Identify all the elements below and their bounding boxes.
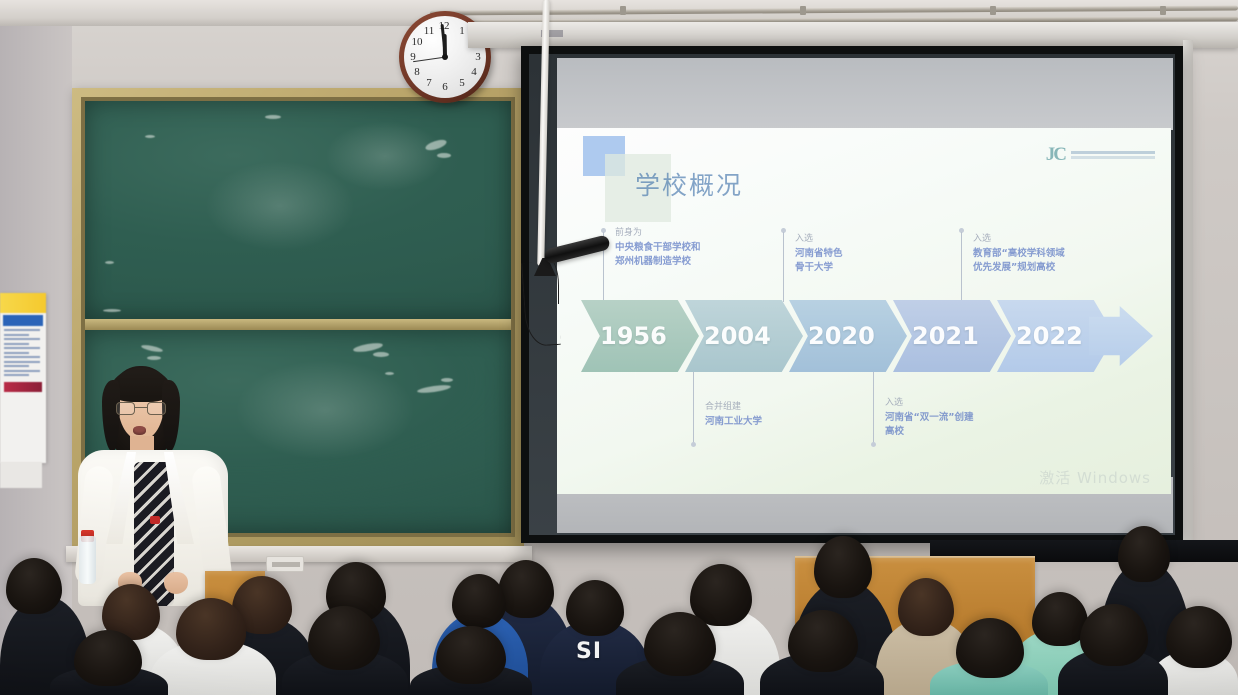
clock-numeral: 4: [468, 66, 480, 78]
lecture-hall-photo: 12 1 2 3 4 5 6 7 8 9 10 11 学校概况: [0, 0, 1238, 695]
timeline-chevron-row: 1956 2004 2020 2021 2022: [581, 300, 1147, 372]
conduit-clip: [800, 6, 806, 15]
timeline-connector-stem: [783, 232, 784, 302]
glasses-bridge: [135, 407, 147, 408]
annotation-main-line: 河南工业大学: [705, 415, 762, 430]
clock-numeral: 7: [423, 77, 435, 89]
slide-logo: JC: [1046, 144, 1155, 166]
annotation-main-line: 骨干大学: [795, 261, 843, 276]
slide-title: 学校概况: [635, 166, 743, 202]
timeline-annotation-2022: 入选 教育部“高校学科领域 优先发展”规划高校: [973, 232, 1065, 276]
poster-header-band: [0, 293, 46, 313]
timeline-year: 2020: [808, 322, 875, 350]
glasses-lens-right: [147, 402, 166, 415]
logo-wordmark-line-2: [1071, 156, 1155, 159]
annotation-small-label: 入选: [885, 396, 974, 411]
logo-wordmark: [1071, 151, 1155, 159]
poster-text-line: [4, 338, 40, 340]
clock-numeral: 1: [456, 25, 468, 37]
timeline-chevron: 2021: [893, 300, 1011, 372]
poster-text-line: [4, 356, 40, 358]
clock-numeral: 3: [472, 51, 484, 63]
poster-text-line: [4, 361, 40, 363]
poster-stamp: [4, 382, 42, 392]
timeline-connector-stem: [693, 372, 694, 444]
presenter-mouth-speaking: [133, 426, 146, 435]
fixture-slot: [272, 562, 300, 567]
annotation-small-label: 前身为: [615, 226, 701, 241]
annotation-small-label: 入选: [795, 232, 843, 247]
conduit-clip: [990, 6, 996, 15]
poster-text-line: [4, 374, 29, 376]
conduit-clip: [1160, 6, 1166, 15]
wall-poster-secondary: [0, 462, 42, 488]
annotation-small-label: 入选: [973, 232, 1065, 247]
poster-text-line: [4, 365, 29, 367]
timeline-year: 2004: [704, 322, 771, 350]
presentation-slide: 学校概况 JC 前身为 中央粮食干部学校和 郑州机器制造学校 入选 河南省特色: [557, 128, 1171, 494]
screen-right-edge: [1183, 40, 1193, 550]
poster-text-line: [4, 329, 40, 331]
annotation-main-line: 教育部“高校学科领域: [973, 247, 1065, 262]
annotation-main-line: 河南省“双一流”创建: [885, 411, 974, 426]
screen-letterbox-top: [557, 58, 1173, 130]
presenter-hand-left: [118, 572, 142, 594]
timeline-year: 2022: [1016, 322, 1083, 350]
wooden-cabinet-right: [795, 558, 1035, 695]
poster-title-bar: [3, 315, 43, 326]
presenter-badge: [150, 516, 160, 524]
water-bottle: [79, 536, 96, 584]
timeline-annotation-1956: 前身为 中央粮食干部学校和 郑州机器制造学校: [615, 226, 701, 270]
clock-center-pin: [442, 54, 448, 60]
jc-logo-mark: JC: [1046, 144, 1065, 166]
timeline-chevron: 2004: [685, 300, 803, 372]
presenter-lecturer: [78, 366, 228, 606]
clock-numeral: 11: [423, 25, 435, 37]
timeline-chevron: 1956: [581, 300, 699, 372]
presenter-glasses: [116, 402, 166, 415]
timeline-year: 2021: [912, 322, 979, 350]
windows-activation-watermark: 激活 Windows: [1039, 467, 1151, 488]
timeline-connector-stem: [873, 372, 874, 444]
wooden-cabinet-left: [205, 571, 265, 695]
poster-text-line: [4, 352, 29, 354]
annotation-main-line: 优先发展”规划高校: [973, 261, 1065, 276]
glasses-lens-left: [116, 402, 135, 415]
chalkboard-panel-top: [85, 101, 511, 319]
wall-power-socket: [278, 603, 292, 620]
wall-poster: [0, 293, 46, 463]
poster-text-line: [4, 343, 29, 345]
clock-numeral: 8: [411, 66, 423, 78]
presenter-hair-side-right: [162, 380, 180, 452]
conduit-clip: [620, 6, 626, 15]
logo-wordmark-line-1: [1071, 151, 1155, 154]
annotation-main-line: 中央粮食干部学校和: [615, 241, 701, 256]
annotation-main-line: 河南省特色: [795, 247, 843, 262]
wall-fixture-plate: [266, 556, 304, 572]
poster-text-line: [4, 370, 40, 372]
projector-screen-housing: [468, 22, 1238, 48]
clock-numeral: 5: [456, 77, 468, 89]
clock-numeral: 10: [411, 36, 423, 48]
annotation-small-label: 合并组建: [705, 400, 762, 415]
annotation-main-line: 高校: [885, 425, 974, 440]
timeline-chevron: 2020: [789, 300, 907, 372]
timeline-annotation-2004: 合并组建 河南工业大学: [705, 400, 762, 429]
projection-screen: 学校概况 JC 前身为 中央粮食干部学校和 郑州机器制造学校 入选 河南省特色: [521, 46, 1183, 543]
timeline-connector-stem: [961, 232, 962, 302]
chalkboard-divider: [85, 319, 511, 330]
timeline-annotation-2020: 入选 河南省特色 骨干大学: [795, 232, 843, 276]
clock-numeral: 6: [439, 81, 451, 93]
timeline-connector-dot: [871, 442, 876, 447]
presenter-hand-right: [164, 572, 188, 594]
timeline-connector-dot: [691, 442, 696, 447]
poster-text-line: [4, 334, 29, 336]
timeline-annotation-2021: 入选 河南省“双一流”创建 高校: [885, 396, 974, 440]
annotation-main-line: 郑州机器制造学校: [615, 255, 701, 270]
timeline-year: 1956: [600, 322, 667, 350]
poster-text-line: [4, 347, 40, 349]
